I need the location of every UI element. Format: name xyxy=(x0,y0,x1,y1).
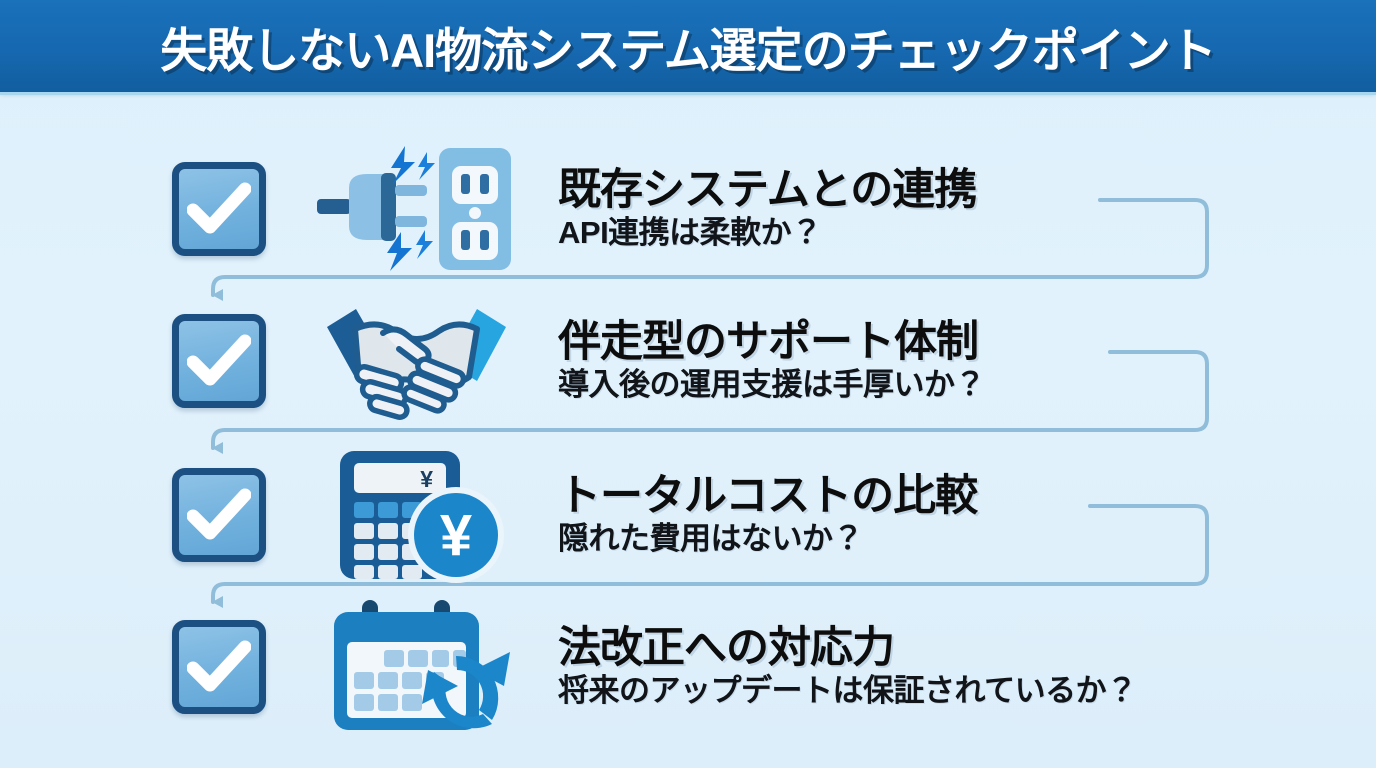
calendar-refresh-icon xyxy=(300,597,532,737)
item-subtitle: API連携は柔軟か？ xyxy=(558,216,976,251)
item-title: 法改正への対応力 xyxy=(558,626,1137,671)
checked-checkbox[interactable] xyxy=(172,314,266,408)
checklist-item-1[interactable]: 既存システムとの連携 API連携は柔軟か？ xyxy=(0,134,1376,284)
checklist-item-4-texts: 法改正への対応力 将来のアップデートは保証されているか？ xyxy=(558,626,1137,708)
checklist-item-3[interactable]: ¥ xyxy=(0,440,1376,590)
item-title: トータルコストの比較 xyxy=(558,474,977,519)
checklist-item-2[interactable]: 伴走型のサポート体制 導入後の運用支援は手厚いか？ xyxy=(0,286,1376,436)
checked-checkbox[interactable] xyxy=(172,620,266,714)
header-underline xyxy=(0,92,1376,95)
calculator-yen-icon: ¥ xyxy=(300,445,532,585)
item-subtitle: 導入後の運用支援は手厚いか？ xyxy=(558,368,985,403)
checked-checkbox[interactable] xyxy=(172,468,266,562)
item-subtitle: 隠れた費用はないか？ xyxy=(558,522,977,557)
check-icon xyxy=(187,640,251,694)
item-title: 既存システムとの連携 xyxy=(558,168,976,213)
page-title: 失敗しないAI物流システム選定のチェックポイント xyxy=(160,12,1216,81)
checklist-item-3-texts: トータルコストの比較 隠れた費用はないか？ xyxy=(558,474,977,556)
header-bar: 失敗しないAI物流システム選定のチェックポイント xyxy=(0,0,1376,92)
checklist-rows: 既存システムとの連携 API連携は柔軟か？ xyxy=(0,96,1376,768)
check-icon xyxy=(187,334,251,388)
infographic-slide: 失敗しないAI物流システム選定のチェックポイント xyxy=(0,0,1376,768)
check-icon xyxy=(187,488,251,542)
item-title: 伴走型のサポート体制 xyxy=(558,320,985,365)
check-icon xyxy=(187,182,251,236)
checklist-item-2-texts: 伴走型のサポート体制 導入後の運用支援は手厚いか？ xyxy=(558,320,985,402)
svg-text:¥: ¥ xyxy=(420,466,433,492)
checked-checkbox[interactable] xyxy=(172,162,266,256)
checklist-item-1-texts: 既存システムとの連携 API連携は柔軟か？ xyxy=(558,168,976,250)
plug-outlet-icon xyxy=(300,139,532,279)
svg-text:¥: ¥ xyxy=(440,503,472,568)
handshake-icon xyxy=(300,291,532,431)
item-subtitle: 将来のアップデートは保証されているか？ xyxy=(558,674,1137,709)
checklist-item-4[interactable]: 法改正への対応力 将来のアップデートは保証されているか？ xyxy=(0,592,1376,742)
